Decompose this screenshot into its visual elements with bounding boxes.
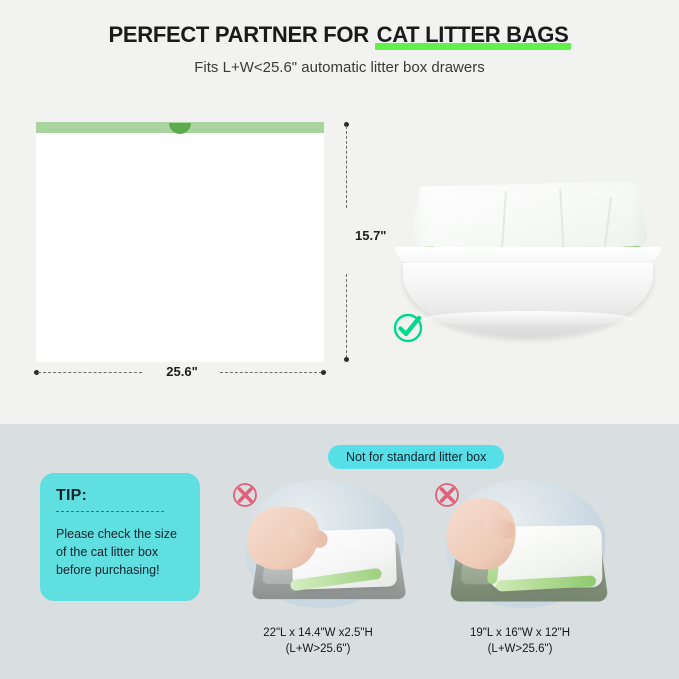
circle-x-icon (230, 480, 260, 510)
page-title-highlight-text: CAT LITTER BAGS (377, 22, 569, 47)
dimension-height-line-top (346, 126, 347, 208)
litter-box-drawer-photo (385, 175, 670, 355)
dimension-height-label: 15.7" (355, 228, 386, 243)
example-caption-1: 22"L x 14.4"W x2.5"H (L+W>25.6") (218, 626, 418, 657)
drawer-shell (403, 263, 653, 337)
example-photo-2 (432, 478, 608, 610)
page-subtitle: Fits L+W<25.6" automatic litter box draw… (0, 59, 679, 76)
tip-divider (56, 511, 164, 512)
dimension-width-line-left (38, 372, 142, 373)
example-caption-2-line-1: 19"L x 16"W x 12"H (470, 627, 570, 639)
example-caption-1-line-2: (L+W>25.6") (218, 642, 418, 658)
liner-fold (604, 197, 612, 247)
bag-body (36, 122, 324, 362)
tip-card: TIP: Please check the size of the cat li… (40, 473, 200, 601)
circle-x-icon (432, 480, 462, 510)
tip-body-line-2: of the cat litter box (56, 545, 158, 559)
example-caption-2-line-2: (L+W>25.6") (420, 642, 620, 658)
bag-diagram (36, 122, 324, 362)
top-section: PERFECT PARTNER FOR CAT LITTER BAGS Fits… (0, 0, 679, 424)
example-photo-1 (230, 478, 406, 610)
dimension-height-line-bottom (346, 274, 347, 358)
tip-title: TIP: (56, 487, 184, 505)
tip-body: Please check the size of the cat litter … (56, 525, 184, 579)
page-title: PERFECT PARTNER FOR CAT LITTER BAGS (0, 22, 679, 48)
page-title-highlight: CAT LITTER BAGS (375, 22, 571, 48)
status-badge: Not for standard litter box (328, 445, 504, 469)
check-circle-icon (390, 309, 426, 345)
tip-body-line-3: before purchasing! (56, 563, 160, 577)
dimension-width-line-right (220, 372, 322, 373)
liner-fold (559, 189, 564, 255)
tip-body-line-1: Please check the size (56, 527, 177, 541)
page-title-plain: PERFECT PARTNER FOR (108, 22, 374, 47)
dimension-width: 25.6" (34, 364, 326, 382)
infographic-page: PERFECT PARTNER FOR CAT LITTER BAGS Fits… (0, 0, 679, 679)
example-caption-1-line-1: 22"L x 14.4"W x2.5"H (263, 627, 373, 639)
liner-fold (501, 191, 507, 249)
example-caption-2: 19"L x 16"W x 12"H (L+W>25.6") (420, 626, 620, 657)
dimension-height-dot-bottom (344, 357, 349, 362)
dimension-width-dot-right (321, 370, 326, 375)
dimension-width-label: 25.6" (146, 364, 218, 379)
